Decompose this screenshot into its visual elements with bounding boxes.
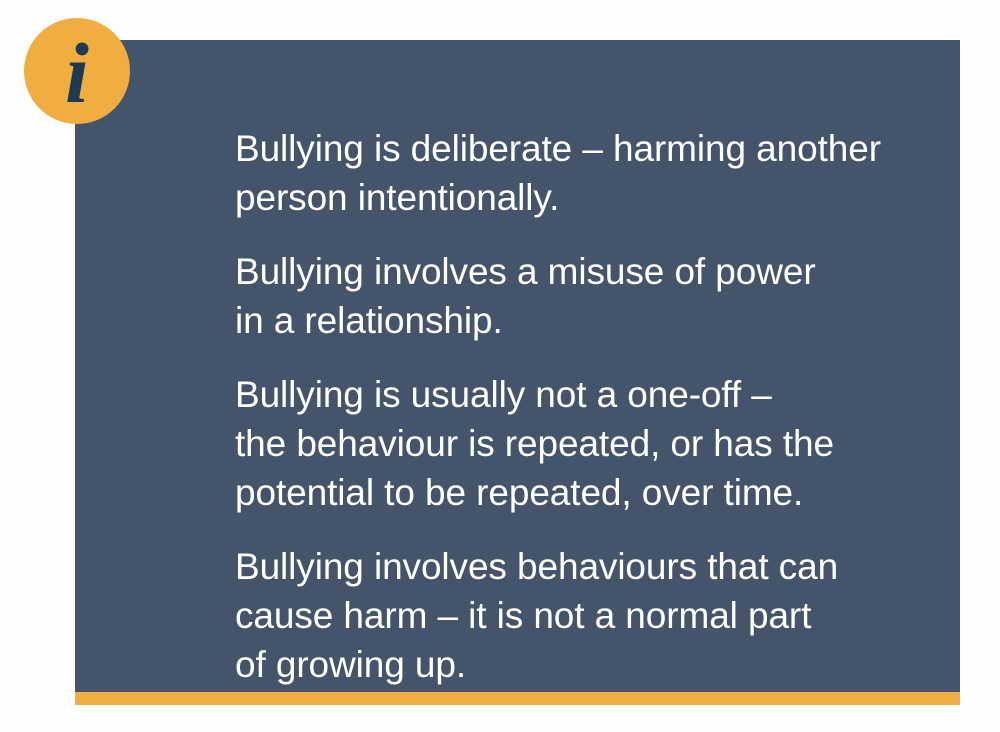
statement-item: Bullying is usually not a one-off – the … <box>235 370 995 517</box>
statement-list: Bullying is deliberate – harming another… <box>235 124 995 689</box>
info-badge-glyph: i <box>24 18 130 124</box>
info-badge-letter: i <box>65 25 89 121</box>
statement-item: Bullying involves a misuse of power in a… <box>235 247 995 345</box>
info-callout-graphic: Bullying is deliberate – harming another… <box>0 0 1000 732</box>
accent-bar <box>75 692 960 705</box>
info-panel: Bullying is deliberate – harming another… <box>75 40 960 692</box>
statement-item: Bullying is deliberate – harming another… <box>235 124 995 222</box>
info-icon: i <box>24 18 130 124</box>
statement-item: Bullying involves behaviours that can ca… <box>235 542 995 689</box>
